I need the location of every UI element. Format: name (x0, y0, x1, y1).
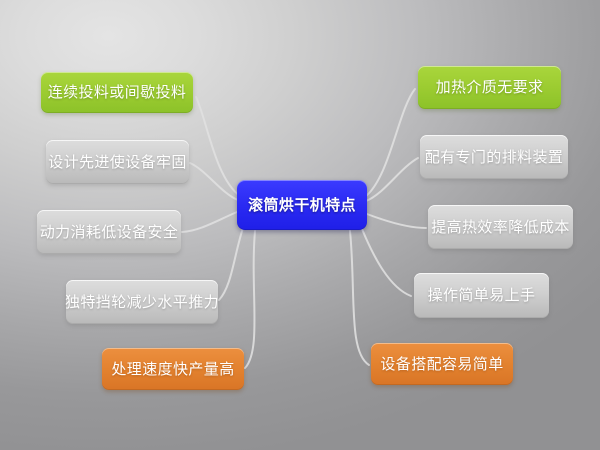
mindmap-branch-5[interactable]: 处理速度快产量高 (102, 348, 244, 390)
mindmap-branch-8[interactable]: 提高热效率降低成本 (428, 205, 573, 249)
mindmap-branch-6[interactable]: 加热介质无要求 (418, 66, 561, 109)
connector-line (362, 229, 411, 296)
connector-line (190, 163, 238, 200)
mindmap-branch-10[interactable]: 设备搭配容易简单 (371, 343, 513, 385)
connector-line (219, 228, 243, 300)
mindmap-branch-5-label: 处理速度快产量高 (111, 362, 234, 377)
connector-line (182, 212, 237, 232)
mindmap-branch-3[interactable]: 动力消耗低设备安全 (37, 210, 181, 254)
mindmap-center-node-label: 滚筒烘干机特点 (248, 198, 356, 213)
mindmap-branch-1-label: 连续投料或间歇投料 (48, 85, 187, 100)
mindmap-branch-1[interactable]: 连续投料或间歇投料 (41, 72, 193, 113)
mindmap-branch-10-label: 设备搭配容易简单 (380, 357, 503, 372)
mindmap-branch-4[interactable]: 独特挡轮减少水平推力 (66, 280, 218, 324)
connector-line (365, 89, 415, 197)
mindmap-branch-9[interactable]: 操作简单易上手 (414, 273, 549, 318)
mindmap-branch-8-label: 提高热效率降低成本 (431, 220, 570, 235)
mindmap-center-node[interactable]: 滚筒烘干机特点 (237, 180, 367, 230)
mindmap-branch-6-label: 加热介质无要求 (436, 80, 544, 95)
mindmap-branch-2[interactable]: 设计先进使设备牢固 (46, 140, 189, 184)
connector-line (350, 231, 369, 365)
mindmap-branch-3-label: 动力消耗低设备安全 (40, 225, 179, 240)
mindmap-branch-2-label: 设计先进使设备牢固 (48, 155, 187, 170)
mindmap-branch-9-label: 操作简单易上手 (428, 288, 536, 303)
connector-line (366, 158, 418, 201)
connector-line (196, 97, 240, 196)
mindmap-branch-7[interactable]: 配有专门的排料装置 (420, 135, 568, 179)
connector-line (367, 214, 426, 228)
mindmap-canvas: 连续投料或间歇投料设计先进使设备牢固动力消耗低设备安全独特挡轮减少水平推力处理速… (0, 0, 600, 450)
mindmap-branch-7-label: 配有专门的排料装置 (425, 150, 564, 165)
mindmap-branch-4-label: 独特挡轮减少水平推力 (65, 295, 219, 310)
connector-line (245, 231, 255, 368)
